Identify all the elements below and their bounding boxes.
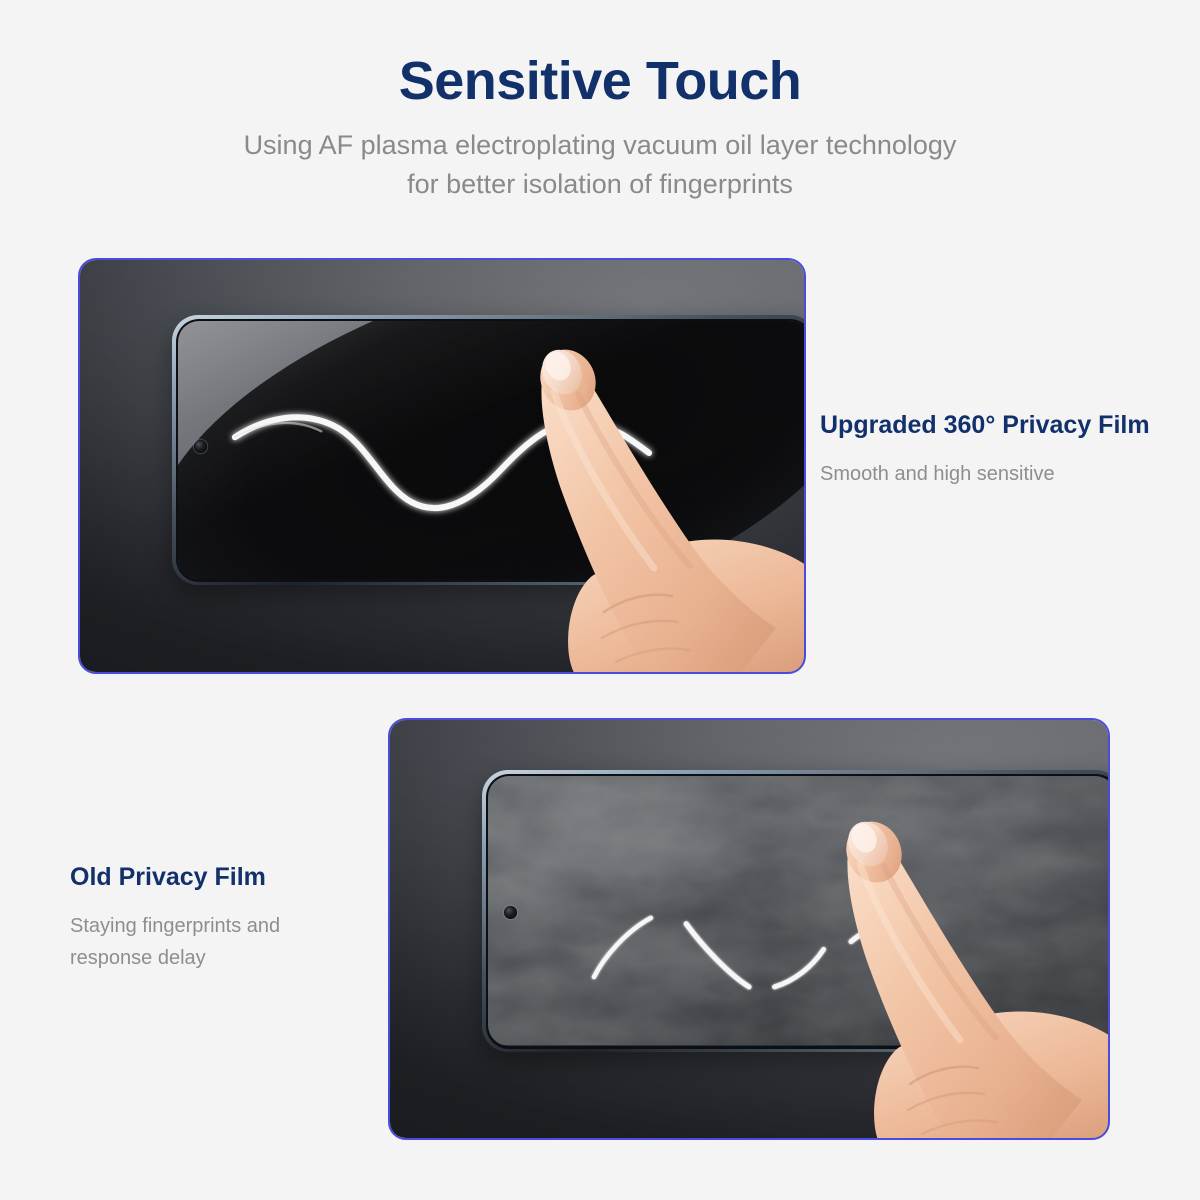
callout-upgraded-film: Upgraded 360° Privacy Film Smooth and hi…: [820, 410, 1150, 490]
upgraded-privacy-film-card: [78, 258, 806, 674]
callout-desc-line: Staying fingerprints and: [70, 910, 280, 942]
callout-title-old: Old Privacy Film: [70, 862, 280, 892]
callout-desc-old: Staying fingerprints and response delay: [70, 910, 280, 975]
subtitle-line-2: for better isolation of fingerprints: [0, 165, 1200, 203]
phone-screen-old: [488, 776, 1110, 1046]
page-title: Sensitive Touch: [0, 52, 1200, 110]
front-camera-icon: [194, 440, 207, 453]
phone-device-old: [482, 770, 1110, 1052]
phone-screen-new: [178, 321, 806, 579]
callout-title-upgraded: Upgraded 360° Privacy Film: [820, 410, 1150, 440]
page-subtitle: Using AF plasma electroplating vacuum oi…: [0, 126, 1200, 203]
subtitle-line-1: Using AF plasma electroplating vacuum oi…: [0, 126, 1200, 164]
callout-desc-line: response delay: [70, 942, 280, 974]
header: Sensitive Touch Using AF plasma electrop…: [0, 0, 1200, 203]
phone-bezel-inner: [176, 319, 807, 582]
screen-sheen: [488, 776, 1110, 1046]
callout-desc-upgraded: Smooth and high sensitive: [820, 458, 1150, 490]
front-camera-icon: [504, 906, 517, 919]
callout-old-film: Old Privacy Film Staying fingerprints an…: [70, 862, 280, 975]
phone-device-new: [172, 315, 806, 585]
old-privacy-film-card: [388, 718, 1110, 1140]
screen-sheen: [178, 321, 806, 579]
callout-desc-line: Smooth and high sensitive: [820, 458, 1150, 490]
phone-bezel-inner: [486, 774, 1111, 1049]
